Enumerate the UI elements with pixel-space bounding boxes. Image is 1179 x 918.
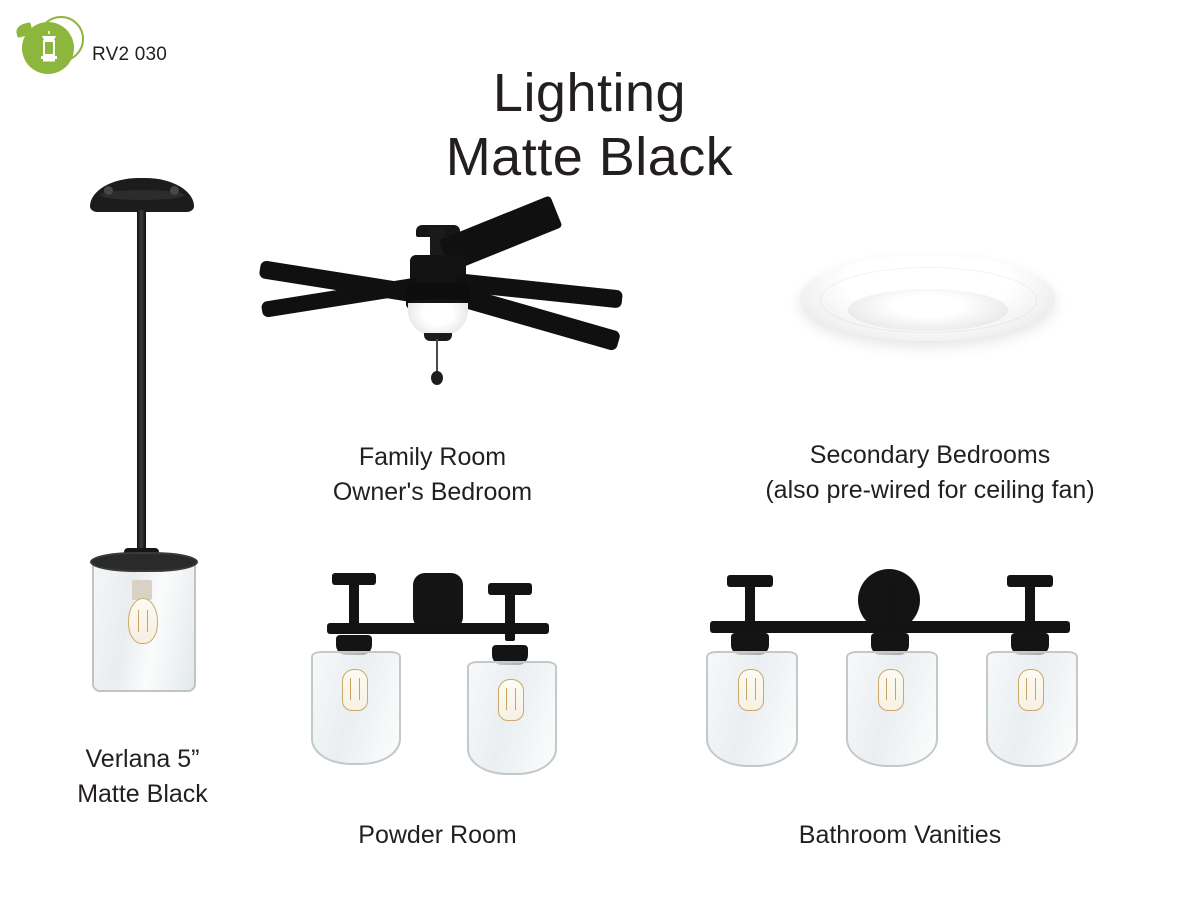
title-line-1: Lighting xyxy=(0,62,1179,126)
pendant-socket xyxy=(132,580,152,600)
caption-flush-mount: Secondary Bedrooms (also pre-wired for c… xyxy=(680,438,1179,507)
ceiling-fan-icon xyxy=(250,225,640,395)
vanity2-bulb-right xyxy=(498,679,524,721)
fan-pull-chain xyxy=(436,339,438,373)
vanity3-crossbar xyxy=(710,621,1070,633)
vanity3-bulb-right xyxy=(1018,669,1044,711)
mini-pendant-light-icon xyxy=(60,170,225,730)
caption-ceiling-fan: Family Room Owner's Bedroom xyxy=(245,440,620,509)
fan-light-kit-finial xyxy=(424,333,452,341)
pendant-canopy xyxy=(90,178,194,212)
lantern-icon xyxy=(38,30,60,64)
vanity2-backplate xyxy=(413,573,463,629)
fan-pull-chain-knob xyxy=(431,371,443,385)
pendant-screw-left xyxy=(104,186,113,195)
vanity2-crossbar xyxy=(327,623,549,634)
fan-light-kit xyxy=(408,303,468,337)
caption-pendant: Verlana 5” Matte Black xyxy=(20,742,265,811)
vanity2-bulb-left xyxy=(342,669,368,711)
pendant-rod xyxy=(137,210,146,555)
pendant-filament xyxy=(138,610,148,632)
pendant-screw-right xyxy=(170,186,179,195)
pendant-shade-collar xyxy=(90,552,198,572)
flush-mount-disk-light-icon xyxy=(800,245,1070,365)
vanity3-bulb-left xyxy=(738,669,764,711)
two-light-vanity-icon xyxy=(305,565,570,815)
caption-powder-room: Powder Room xyxy=(300,818,575,853)
caption-bathroom-vanities: Bathroom Vanities xyxy=(690,818,1110,853)
disk-light-lens xyxy=(848,289,1008,331)
vanity3-bulb-center xyxy=(878,669,904,711)
three-light-vanity-icon xyxy=(690,565,1085,815)
